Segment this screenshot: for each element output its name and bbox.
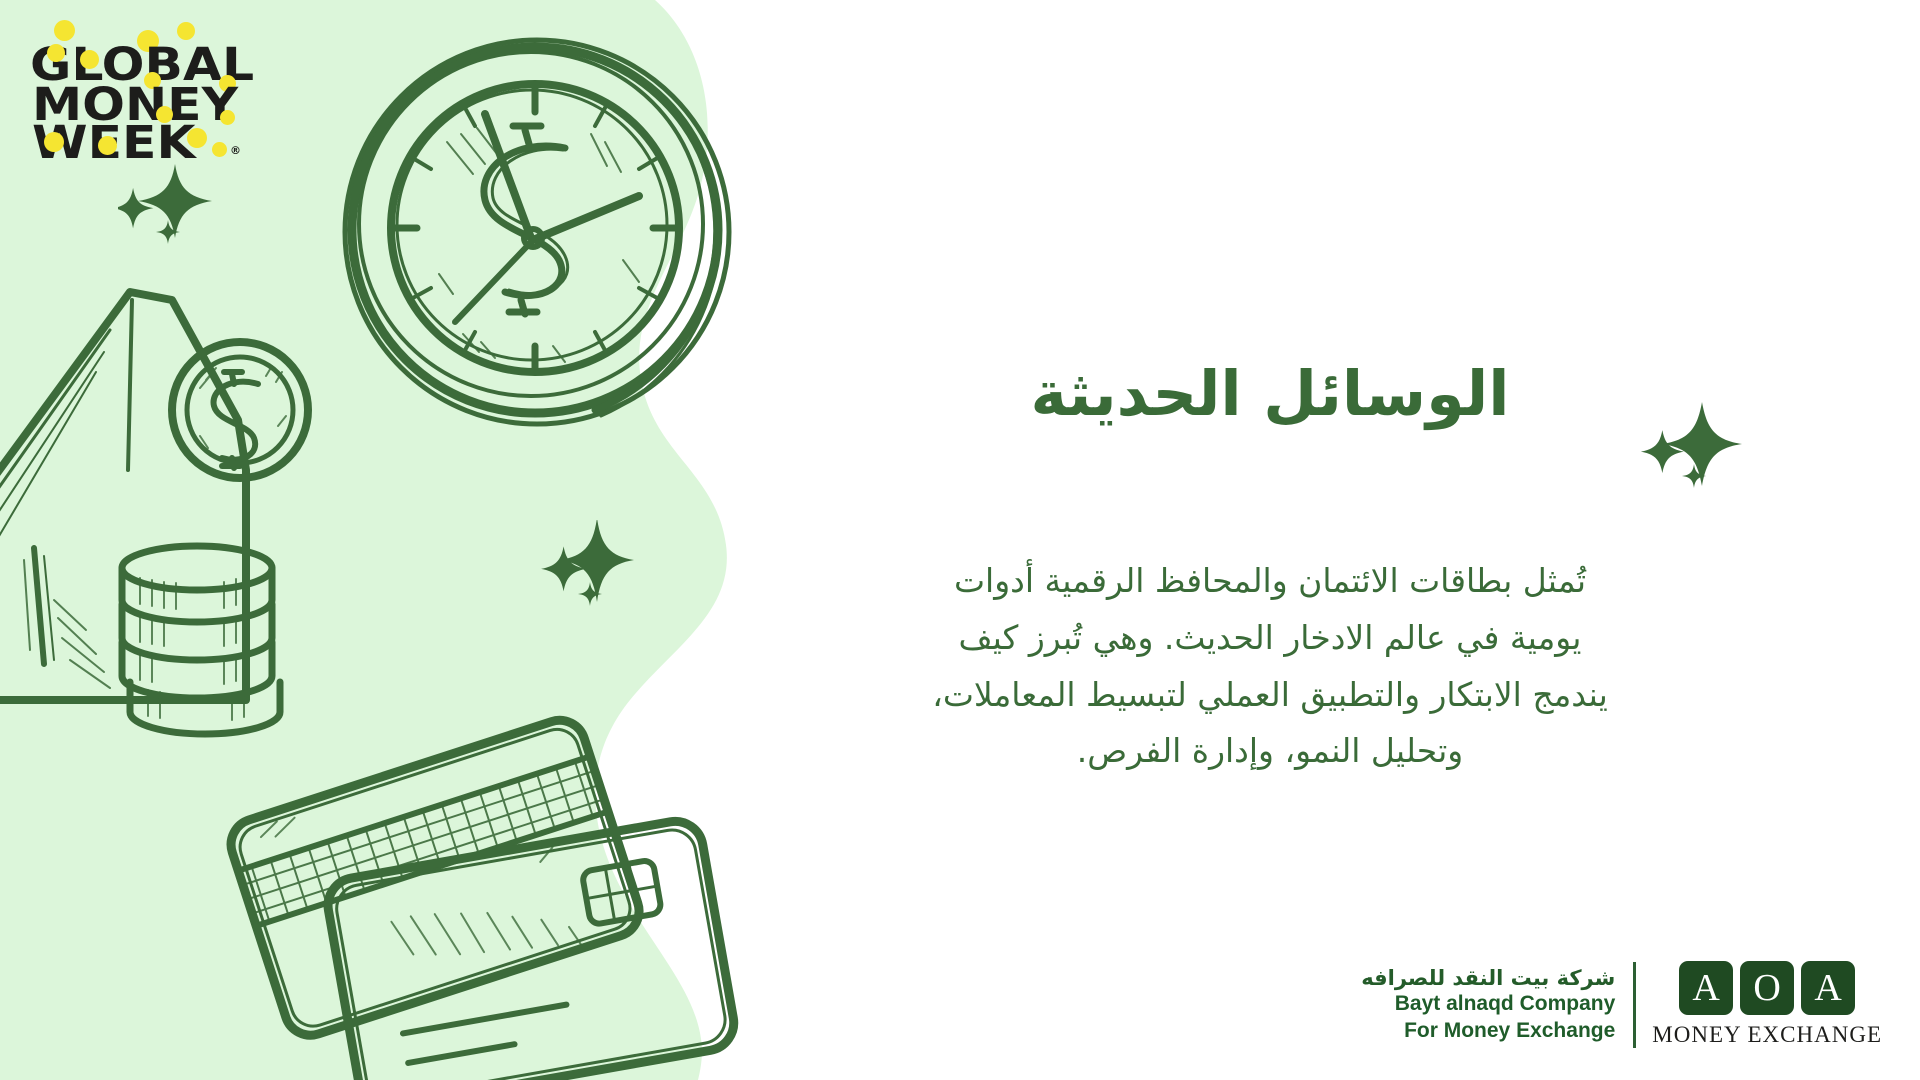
company-name-english-line1: Bayt alnaqd Company: [1361, 991, 1615, 1018]
company-name-block: شركة بيت النقد للصرافه Bayt alnaqd Compa…: [1361, 965, 1633, 1045]
content-column: الوسائل الحديثة تُمثل بطاقات الائتمان وا…: [980, 0, 1920, 1080]
slide-canvas: GLOBAL MONEY WEEK ®: [0, 0, 1920, 1080]
company-name-english-line2: For Money Exchange: [1361, 1018, 1615, 1045]
logo-dot: [47, 44, 65, 62]
aoa-tile-a1: A: [1679, 961, 1733, 1015]
logo-dot: [98, 136, 117, 155]
aoa-letter-tiles: A O A: [1679, 961, 1855, 1015]
registered-trademark-icon: ®: [230, 144, 241, 157]
page-title: الوسائل الحديثة: [960, 360, 1580, 428]
aoa-logo-caption: MONEY EXCHANGE: [1652, 1022, 1882, 1048]
credit-cards-icon: [224, 714, 738, 1080]
growth-arrow-icon: [0, 292, 246, 700]
company-name-arabic: شركة بيت النقد للصرافه: [1361, 965, 1615, 991]
logo-divider: [1633, 962, 1636, 1048]
dollar-coin-icon: [172, 342, 308, 478]
global-money-week-logo: GLOBAL MONEY WEEK ®: [22, 20, 252, 160]
coin-stack-icon: [122, 546, 280, 734]
aoa-tile-o: O: [1740, 961, 1794, 1015]
body-paragraph: تُمثل بطاقات الائتمان والمحافظ الرقمية أ…: [920, 553, 1620, 780]
sparkle-cluster-middle: [540, 520, 650, 620]
aoa-tile-a2: A: [1801, 961, 1855, 1015]
logo-dot: [220, 110, 235, 125]
logo-dot: [80, 50, 99, 69]
company-logo-lockup: شركة بيت النقد للصرافه Bayt alnaqd Compa…: [1361, 961, 1882, 1048]
logo-dot: [187, 128, 207, 148]
clock-dollar-icon: [345, 40, 729, 424]
aoa-logo-mark: A O A MONEY EXCHANGE: [1652, 961, 1882, 1048]
logo-dot: [212, 142, 227, 157]
sparkle-cluster-top-left: [118, 158, 228, 258]
logo-dot: [44, 132, 64, 152]
